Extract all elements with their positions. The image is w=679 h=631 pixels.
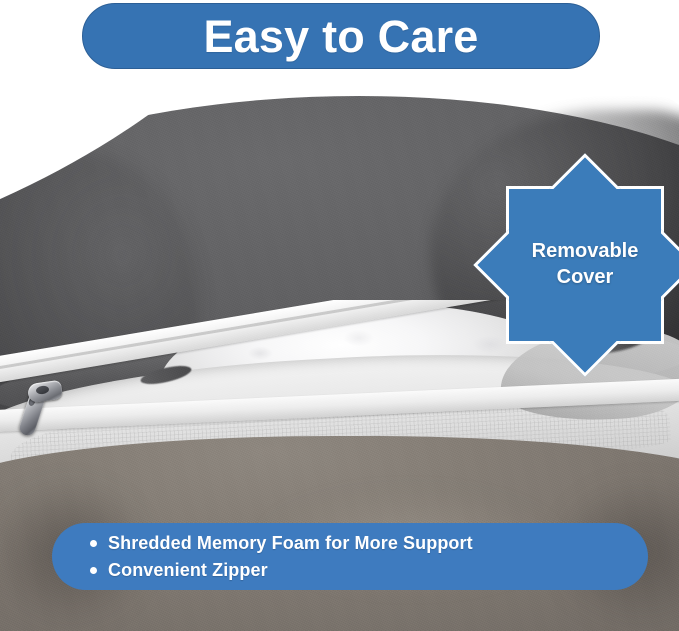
product-image-scene: Easy to Care Removable Cover Shredded Me…: [0, 0, 679, 631]
list-item: Shredded Memory Foam for More Support: [90, 530, 648, 557]
list-item: Convenient Zipper: [90, 557, 648, 584]
badge-label-line1: Removable: [532, 239, 639, 265]
badge-label-line2: Cover: [557, 265, 614, 291]
badge-label: Removable Cover: [506, 186, 664, 344]
feature-label: Convenient Zipper: [108, 557, 268, 584]
feature-banner: Shredded Memory Foam for More Support Co…: [52, 523, 648, 590]
feature-list: Shredded Memory Foam for More Support Co…: [90, 530, 648, 584]
page-title: Easy to Care: [203, 14, 478, 59]
bullet-dot-icon: [90, 540, 97, 547]
bullet-dot-icon: [90, 567, 97, 574]
feature-label: Shredded Memory Foam for More Support: [108, 530, 473, 557]
removable-cover-badge: Removable Cover: [506, 186, 664, 344]
title-banner: Easy to Care: [82, 3, 600, 69]
